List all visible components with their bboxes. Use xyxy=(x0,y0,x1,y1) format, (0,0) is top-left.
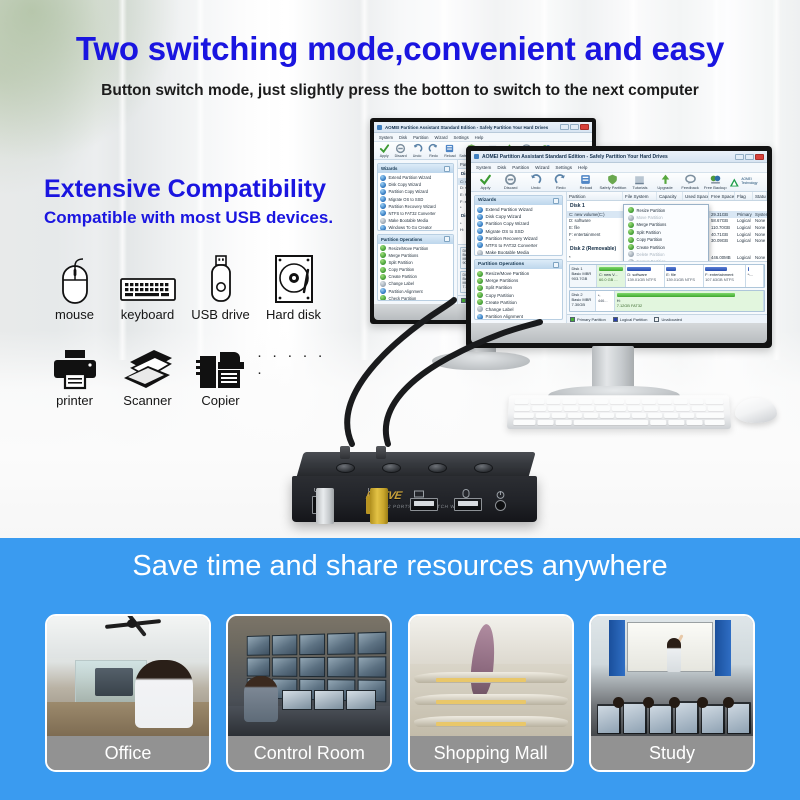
check-icon xyxy=(474,174,497,185)
resize-icon xyxy=(628,207,634,213)
partition-block[interactable]: F: entertainment 107.63GB NTFS xyxy=(704,265,746,287)
menu-item-help[interactable]: Help xyxy=(578,165,587,170)
collapse-icon[interactable] xyxy=(444,236,450,242)
item-label: Partition Alignment xyxy=(389,289,423,294)
item-label: Partition Recovery Wizard xyxy=(486,236,538,241)
menu-item-disk[interactable]: Disk xyxy=(399,135,407,140)
maximize-button[interactable] xyxy=(745,154,754,160)
redo-icon xyxy=(549,174,572,185)
close-button[interactable] xyxy=(755,154,764,160)
item-label: Resize/Move Partition xyxy=(389,246,429,251)
aomei-logo-icon xyxy=(729,176,740,189)
device-label: Hard disk xyxy=(257,307,330,322)
list-item[interactable]: Make Bootable Media xyxy=(477,250,560,256)
item-label: Partition Copy Wizard xyxy=(389,189,429,194)
toolbar-label: Safely Partition xyxy=(599,185,626,190)
toolbar-label: Upgrade xyxy=(653,185,676,190)
list-item[interactable]: Merge Partitions xyxy=(477,278,560,284)
item-label: Partition Alignment xyxy=(486,314,524,319)
more-devices-ellipsis: · · · · · · xyxy=(257,338,329,390)
item-label: Windows To Go Creator xyxy=(389,225,432,230)
list-item[interactable]: Copy Partition xyxy=(380,267,451,273)
usb-drive-icon xyxy=(184,252,257,304)
wizard-icon xyxy=(477,250,483,256)
page-title: Two switching mode,convenient and easy xyxy=(0,30,800,68)
operations-panel-header[interactable]: Partition Operations xyxy=(475,260,562,269)
operation-icon xyxy=(477,314,483,320)
toolbar-label: Undo xyxy=(524,185,547,190)
office-photo xyxy=(47,616,209,736)
list-item[interactable]: Partition Copy Wizard xyxy=(477,221,560,227)
desk-keyboard[interactable] xyxy=(507,395,731,429)
item-label: Resize/Move Partition xyxy=(486,271,530,276)
main-content: Partition File System Capacity Used Spac… xyxy=(567,192,767,323)
wizard-icon xyxy=(380,203,386,209)
item-label: Partition Recovery Wizard xyxy=(389,204,436,209)
list-item[interactable]: Extend Partition Wizard xyxy=(477,207,560,213)
move-icon xyxy=(628,215,634,221)
wizard-icon xyxy=(477,207,483,213)
backup-icon xyxy=(704,174,727,185)
close-button[interactable] xyxy=(580,124,589,130)
list-item[interactable]: NTFS to FAT32 Converter xyxy=(477,242,560,248)
minimize-button[interactable] xyxy=(560,124,569,130)
wizards-panel: Wizards Extend Partition Wizard Disk Cop… xyxy=(474,195,563,256)
discard-icon xyxy=(393,143,407,154)
cable-plug-1 xyxy=(340,446,350,459)
card-caption: Study xyxy=(591,736,753,770)
usage-bar xyxy=(627,267,651,271)
list-item[interactable]: Migrate OS to SSD xyxy=(380,196,451,202)
column-header-capacity[interactable]: Capacity xyxy=(657,192,683,200)
collapse-icon[interactable] xyxy=(553,262,559,268)
power-icon xyxy=(496,490,505,499)
upgrade-icon xyxy=(653,174,676,185)
menu-item-system[interactable]: System xyxy=(379,135,393,140)
undo-icon xyxy=(524,174,547,185)
mouse-icon xyxy=(38,252,111,304)
context-menu-item[interactable]: Merge Partitions xyxy=(624,221,708,228)
item-label: Copy Partition xyxy=(389,267,415,272)
reload-icon xyxy=(443,143,457,154)
disk-map-row[interactable]: Disk 1 Basic MBR 903.7GB C: new V... 60.… xyxy=(569,264,765,288)
list-item[interactable]: Resize/Move Partition xyxy=(380,245,451,251)
column-header-free-space[interactable]: Free Space xyxy=(709,192,735,200)
column-header-partition[interactable]: Partition xyxy=(567,192,623,200)
usb-a-port-2[interactable] xyxy=(454,498,482,511)
item-label: Extend Partition Wizard xyxy=(486,207,533,212)
item-label: Check Partition xyxy=(389,296,417,301)
context-menu-item[interactable]: Copy Partition xyxy=(624,236,708,243)
menu-item-settings[interactable]: Settings xyxy=(555,165,572,170)
use-case-card-study[interactable]: Study xyxy=(589,614,755,772)
keyboard-icon xyxy=(111,252,184,304)
list-item[interactable]: Change Label xyxy=(477,306,560,312)
menu-item-partition[interactable]: Partition xyxy=(413,135,428,140)
use-case-cards: Office Control Room xyxy=(45,614,755,772)
logical-swatch xyxy=(613,317,618,322)
toolbar-button-redo[interactable]: Redo xyxy=(549,174,572,190)
toolbar-label: Feedback xyxy=(679,185,702,190)
minimize-button[interactable] xyxy=(735,154,744,160)
operation-icon xyxy=(477,299,483,305)
item-label: Partition Copy Wizard xyxy=(486,221,530,226)
toolbar-button-safely-partition[interactable]: Safely Partition xyxy=(599,174,626,190)
operation-icon xyxy=(380,252,386,258)
bottom-title: Save time and share resources anywhere xyxy=(0,550,800,583)
wizard-icon xyxy=(380,182,386,188)
desk-mouse[interactable] xyxy=(735,398,777,423)
merge-icon xyxy=(628,222,634,228)
wizard-icon xyxy=(380,218,386,224)
panel-title: Wizards xyxy=(478,198,496,203)
item-label: Split Partition xyxy=(486,285,513,290)
usage-bar xyxy=(617,293,736,297)
toolbar-label: Discard xyxy=(393,154,407,158)
switch-button-2[interactable] xyxy=(382,463,401,473)
feedback-icon xyxy=(679,174,702,185)
list-item[interactable]: Partition Alignment xyxy=(380,288,451,294)
shopping-mall-photo xyxy=(410,616,572,736)
menu-item-system[interactable]: System xyxy=(476,165,491,170)
device-hard-disk: Hard disk xyxy=(257,252,330,322)
sidebar: Wizards Extend Partition Wizard Disk Cop… xyxy=(471,192,567,323)
toolbar-button-feedback[interactable]: Feedback xyxy=(679,174,702,190)
disk-info: Disk 2 Basic MBR 7.30GB xyxy=(570,291,596,311)
toolbar-button-discard[interactable]: Discard xyxy=(393,143,407,158)
item-label: Disk Copy Wizard xyxy=(486,214,522,219)
toolbar-button-redo[interactable]: Redo xyxy=(426,143,440,158)
wizard-icon xyxy=(380,189,386,195)
context-menu-item: Format Partition xyxy=(624,258,708,261)
context-menu-item[interactable]: Resize Partition xyxy=(624,207,708,214)
wizard-icon xyxy=(380,210,386,216)
operation-icon xyxy=(477,271,483,277)
column-header-status[interactable]: Status xyxy=(753,192,767,200)
item-label: Copy Partition xyxy=(486,293,514,298)
unallocated-swatch xyxy=(654,317,659,322)
list-item[interactable]: Split Partition xyxy=(477,285,560,291)
discard-icon xyxy=(499,174,522,185)
menu-item-help[interactable]: Help xyxy=(475,135,484,140)
wizards-list: Extend Partition Wizard Disk Copy Wizard… xyxy=(378,173,453,231)
monitor-bezel: AOMEI Partition Assistant Standard Editi… xyxy=(466,146,772,348)
create-icon xyxy=(628,244,634,250)
toolbar-button-upgrade[interactable]: Upgrade xyxy=(653,174,676,190)
toolbar-label: Reload xyxy=(574,185,597,190)
partition-block[interactable]: C: new V... 60.0 GB ... xyxy=(597,265,625,287)
list-item[interactable]: Disk Copy Wizard xyxy=(380,182,451,188)
collapse-icon[interactable] xyxy=(553,198,559,204)
partition-context-menu[interactable]: Resize Partition Move Partition Merge Pa… xyxy=(623,204,709,261)
column-header-file-system[interactable]: File System xyxy=(623,192,657,200)
toolbar-button-tutorials[interactable]: Tutorials xyxy=(628,174,651,190)
operations-panel: Partition Operations Resize/Move Partiti… xyxy=(474,259,563,320)
item-label: Disk Copy Wizard xyxy=(389,182,422,187)
list-item[interactable]: Create Partition xyxy=(477,299,560,305)
toolbar-label: Apply xyxy=(474,185,497,190)
wizards-panel-header[interactable]: Wizards xyxy=(475,196,562,205)
item-label: Merge Partitions xyxy=(389,253,419,258)
legend-item: Logical Partition xyxy=(613,317,648,322)
primary-swatch xyxy=(570,317,575,322)
monitor-screen: AOMEI Partition Assistant Standard Editi… xyxy=(471,151,767,323)
app-body: Wizards Extend Partition Wizard Disk Cop… xyxy=(471,192,767,323)
operation-icon xyxy=(477,306,483,312)
item-label: Migrate OS to SSD xyxy=(486,229,524,234)
split-icon xyxy=(628,229,634,235)
toolbar-button-reload[interactable]: Reload xyxy=(574,174,597,190)
list-item[interactable]: Make Bootable Media xyxy=(380,218,451,224)
context-menu-item[interactable]: Create Partition xyxy=(624,243,708,250)
use-case-card-control-room[interactable]: Control Room xyxy=(226,614,392,772)
legend-item: Unallocated xyxy=(654,317,682,322)
toolbar-label: Redo xyxy=(426,154,440,158)
toolbar-button-discard[interactable]: Discard xyxy=(499,174,522,190)
context-menu-item: Move Partition xyxy=(624,214,708,221)
aomei-app-window-2: AOMEI Partition Assistant Standard Editi… xyxy=(471,151,767,323)
list-item[interactable]: Merge Partitions xyxy=(380,252,451,258)
format-icon xyxy=(628,259,634,261)
devices-row-1: mouse xyxy=(38,252,338,322)
usage-bar xyxy=(599,267,623,271)
device-label: USB drive xyxy=(184,307,257,322)
cable-plug-2 xyxy=(376,446,386,459)
list-item[interactable]: Migrate OS to SSD xyxy=(477,228,560,234)
table-header: Partition File System Capacity Used Spac… xyxy=(567,192,767,201)
panel-title: Partition Operations xyxy=(381,237,422,242)
keyboard-port-icon xyxy=(414,489,424,500)
list-item[interactable]: Resize/Move Partition xyxy=(477,271,560,277)
list-item[interactable]: Check Partition xyxy=(380,295,451,301)
partition-block[interactable]: E: file 139.01GB NTFS xyxy=(665,265,704,287)
toolbar-button-free-backup[interactable]: Free Backup xyxy=(704,174,727,190)
study-photo xyxy=(591,616,753,736)
partition-block[interactable]: H: 7.12GB FAT32 xyxy=(615,291,764,311)
list-item[interactable]: Partition Copy Wizard xyxy=(380,189,451,195)
item-label: Extend Partition Wizard xyxy=(389,175,432,180)
partition-block[interactable]: D: software 139.01GB NTFS xyxy=(626,265,665,287)
compatibility-subtitle: Compatible with most USB devices. xyxy=(44,208,333,228)
collapse-icon[interactable] xyxy=(444,166,450,172)
operation-icon xyxy=(380,245,386,251)
partition-table: Disk 1 C: new volume(C:) NTFS 60.01GB 30… xyxy=(567,201,767,261)
device-scanner: Scanner xyxy=(111,338,184,408)
window-buttons xyxy=(560,124,589,130)
panel-title: Partition Operations xyxy=(478,262,524,267)
usage-bar xyxy=(666,267,676,271)
disk-legend: Primary Partition Logical Partition Unal… xyxy=(567,314,767,323)
list-item[interactable]: Disk Copy Wizard xyxy=(477,214,560,220)
copier-icon xyxy=(184,338,257,390)
brand-text: AOMEI Technology xyxy=(741,178,762,185)
toolbar-button-apply[interactable]: Apply xyxy=(377,143,391,158)
undo-icon xyxy=(410,143,424,154)
column-header-flag[interactable]: Flag xyxy=(735,192,753,200)
item-label: NTFS to FAT32 Converter xyxy=(486,243,538,248)
toolbar-label: Discard xyxy=(499,185,522,190)
control-room-photo xyxy=(228,616,390,736)
titlebar: AOMEI Partition Assistant Standard Editi… xyxy=(374,122,592,133)
menu-item-wizard[interactable]: Wizard xyxy=(435,135,448,140)
app-brand: AOMEI Technology xyxy=(729,176,764,189)
usage-bar xyxy=(748,267,750,271)
wizards-panel-header[interactable]: Wizards xyxy=(378,164,453,173)
app-icon xyxy=(474,154,479,159)
monitor-neck xyxy=(592,346,634,390)
device-mouse: mouse xyxy=(38,252,111,322)
operations-panel-header[interactable]: Partition Operations xyxy=(378,235,453,244)
panel-title: Wizards xyxy=(381,166,397,171)
item-label: Merge Partitions xyxy=(486,278,519,283)
item-label: Change Label xyxy=(389,281,415,286)
bottom-section: Save time and share resources anywhere O… xyxy=(0,538,800,800)
device-label: mouse xyxy=(38,307,111,322)
menubar: System Disk Partition Wizard Settings He… xyxy=(374,133,592,142)
switch-button-3[interactable] xyxy=(428,463,447,473)
monitor-chin xyxy=(471,323,767,343)
device-usb-drive: USB drive xyxy=(184,252,257,322)
context-menu-item: Delete Partition xyxy=(624,251,708,258)
operation-icon xyxy=(380,267,386,273)
menu-item-disk[interactable]: Disk xyxy=(497,165,506,170)
item-label: Split Partition xyxy=(389,260,413,265)
list-item[interactable]: Partition Recovery Wizard xyxy=(477,235,560,241)
scanner-icon xyxy=(111,338,184,390)
toolbar-button-undo[interactable]: Undo xyxy=(524,174,547,190)
list-item[interactable]: Extend Partition Wizard xyxy=(380,175,451,181)
toolbar-label: Free Backup xyxy=(704,185,727,190)
item-label: Make Bootable Media xyxy=(486,250,530,255)
operation-icon xyxy=(477,278,483,284)
operations-panel: Partition Operations Resize/Move Partiti… xyxy=(377,234,454,302)
toolbar-button-reload[interactable]: Reload xyxy=(443,143,457,158)
devices-row-2: printer Scanner xyxy=(38,338,338,408)
window-title: AOMEI Partition Assistant Standard Editi… xyxy=(385,125,548,130)
titlebar: AOMEI Partition Assistant Standard Editi… xyxy=(471,151,767,163)
card-caption: Shopping Mall xyxy=(410,736,572,770)
toolbar-button-apply[interactable]: Apply xyxy=(474,174,497,190)
monitor-base xyxy=(432,352,530,370)
book-icon xyxy=(628,174,651,185)
wizard-icon xyxy=(477,242,483,248)
switch-button-4[interactable] xyxy=(474,463,493,473)
menu-item-partition[interactable]: Partition xyxy=(512,165,529,170)
toolbar-button-undo[interactable]: Undo xyxy=(410,143,424,158)
app-icon xyxy=(377,125,382,130)
window-title: AOMEI Partition Assistant Standard Editi… xyxy=(482,154,668,160)
device-label: printer xyxy=(38,393,111,408)
item-label: Create Partition xyxy=(486,300,517,305)
menubar: System Disk Partition Wizard Settings He… xyxy=(471,163,767,173)
operation-icon xyxy=(380,259,386,265)
item-label: NTFS to FAT32 Converter xyxy=(389,211,436,216)
operations-list: Resize/Move Partition Merge Partitions S… xyxy=(475,269,562,320)
legend-item: Primary Partition xyxy=(570,317,606,322)
use-case-card-shopping-mall[interactable]: Shopping Mall xyxy=(408,614,574,772)
toolbar-label: Undo xyxy=(410,154,424,158)
wizard-icon xyxy=(380,196,386,202)
wizard-icon xyxy=(477,214,483,220)
wizard-icon xyxy=(380,175,386,181)
list-item[interactable]: Create Partition xyxy=(380,274,451,280)
operations-list: Resize/Move Partition Merge Partitions S… xyxy=(378,244,453,302)
hard-disk-icon xyxy=(257,252,330,304)
wizard-icon xyxy=(477,221,483,227)
menu-item-wizard[interactable]: Wizard xyxy=(535,165,549,170)
column-header-used-space[interactable]: Used Space xyxy=(683,192,709,200)
card-caption: Office xyxy=(47,736,209,770)
operation-icon xyxy=(380,288,386,294)
context-menu-item[interactable]: Split Partition xyxy=(624,229,708,236)
item-label: Migrate OS to SSD xyxy=(389,197,424,202)
device-top-surface xyxy=(296,452,535,478)
item-label: Create Partition xyxy=(389,274,417,279)
maximize-button[interactable] xyxy=(570,124,579,130)
disk-map-row[interactable]: Disk 2 Basic MBR 7.30GB *: 446... xyxy=(569,290,765,312)
disk-info: Disk 1 Basic MBR 903.7GB xyxy=(570,265,597,287)
list-item[interactable]: Copy Partition xyxy=(477,292,560,298)
switch-button-1[interactable] xyxy=(336,463,355,473)
device-label: Scanner xyxy=(111,393,184,408)
list-item[interactable]: Change Label xyxy=(380,281,451,287)
disk-map-area: Disk 1 Basic MBR 903.7GB C: new V... 60.… xyxy=(567,261,767,314)
device-label: Copier xyxy=(184,393,257,408)
usb-drive-silver[interactable] xyxy=(316,488,334,524)
kvm-switch-device[interactable]: KCEVE 2 PORTS USB SWITCH WITH 4 USB USB … xyxy=(292,452,537,524)
wizard-icon xyxy=(380,225,386,231)
window-buttons xyxy=(735,154,764,160)
toolbar-label: Redo xyxy=(549,185,572,190)
power-jack[interactable] xyxy=(495,500,506,511)
reload-icon xyxy=(574,174,597,185)
compatibility-title: Extensive Compatibility xyxy=(44,175,326,204)
item-label: Change Label xyxy=(486,307,514,312)
list-item[interactable]: Split Partition xyxy=(380,259,451,265)
redo-icon xyxy=(426,143,440,154)
operation-icon xyxy=(380,281,386,287)
partition-block[interactable]: *: 446... xyxy=(596,291,615,311)
toolbar: Apply Discard Undo xyxy=(471,173,767,192)
device-printer: printer xyxy=(38,338,111,408)
toolbar-label: Tutorials xyxy=(628,185,651,190)
list-item[interactable]: Partition Recovery Wizard xyxy=(380,203,451,209)
wizard-icon xyxy=(477,228,483,234)
toolbar-label: Apply xyxy=(377,154,391,158)
page-subtitle: Button switch mode, just slightly press … xyxy=(0,82,800,100)
partition-block[interactable]: *:... xyxy=(746,265,764,287)
copy-icon xyxy=(628,237,634,243)
list-item[interactable]: Partition Alignment xyxy=(477,314,560,320)
wizards-panel: Wizards Extend Partition Wizard Disk Cop… xyxy=(377,163,454,231)
wizards-list: Extend Partition Wizard Disk Copy Wizard… xyxy=(475,205,562,256)
operation-icon xyxy=(477,292,483,298)
list-item[interactable]: Windows To Go Creator xyxy=(380,225,451,231)
usb-drive-gold[interactable] xyxy=(370,488,388,524)
operation-icon xyxy=(380,274,386,280)
wizard-icon xyxy=(477,235,483,241)
sidebar: Wizards Extend Partition Wizard Disk Cop… xyxy=(374,160,458,304)
operation-icon xyxy=(477,285,483,291)
card-caption: Control Room xyxy=(228,736,390,770)
printer-icon xyxy=(38,338,111,390)
list-item[interactable]: NTFS to FAT32 Converter xyxy=(380,210,451,216)
device-label: keyboard xyxy=(111,307,184,322)
use-case-card-office[interactable]: Office xyxy=(45,614,211,772)
device-keyboard: keyboard xyxy=(111,252,184,322)
menu-item-settings[interactable]: Settings xyxy=(454,135,469,140)
shield-icon xyxy=(599,174,626,185)
